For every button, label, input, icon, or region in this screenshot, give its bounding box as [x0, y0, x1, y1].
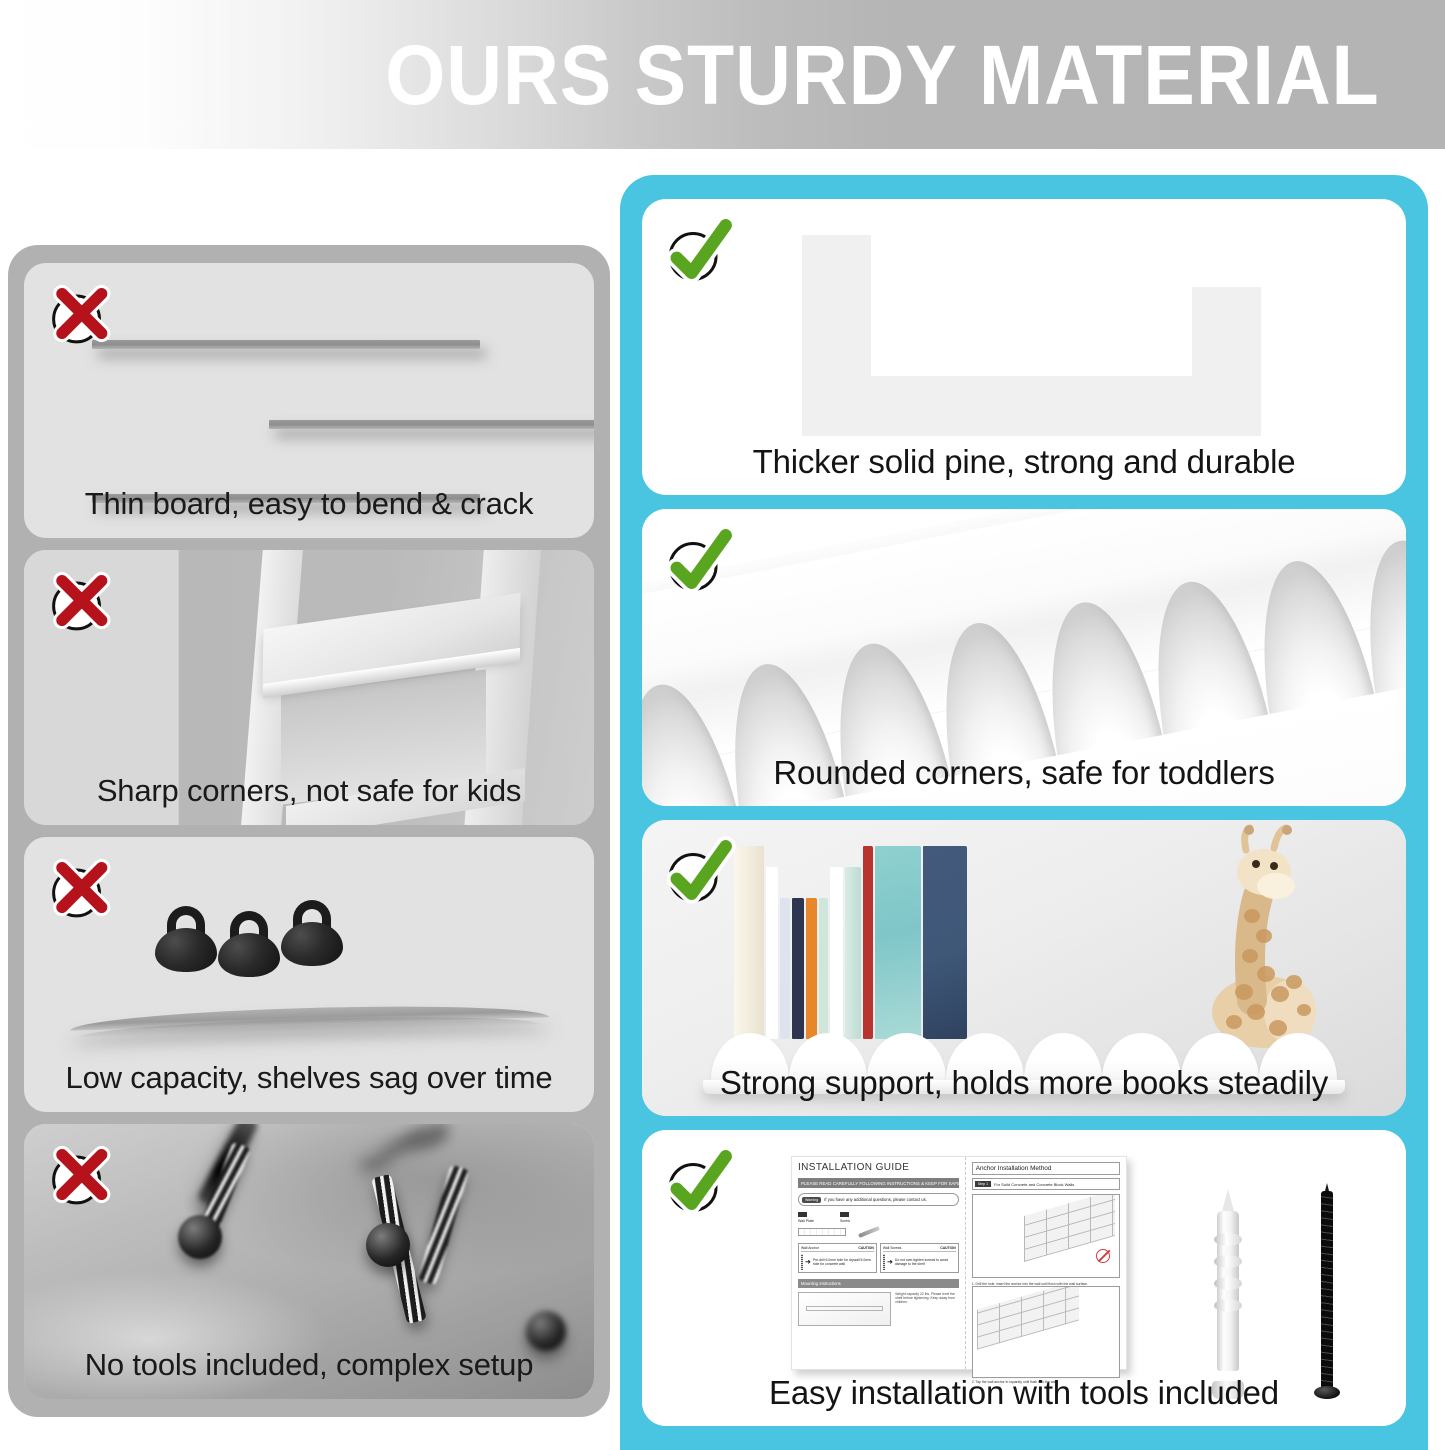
- con-card-caption: Sharp corners, not safe for kids: [24, 773, 594, 825]
- pro-card-easy-installation: INSTALLATION GUIDE PLEASE READ CAREFULLY…: [642, 1130, 1406, 1426]
- check-icon: [662, 525, 736, 599]
- part-screw: Screw: [840, 1212, 850, 1223]
- guide-right-title: Anchor Installation Method: [972, 1162, 1120, 1175]
- pro-card-rounded-corners: Rounded corners, safe for toddlers: [642, 509, 1406, 805]
- con-card-caption: No tools included, complex setup: [24, 1347, 594, 1399]
- pro-card-thicker-pine: Thicker solid pine, strong and durable: [642, 199, 1406, 495]
- guide-banner: PLEASE READ CAREFULLY FOLLOWING INSTRUCT…: [798, 1178, 959, 1188]
- guide-title: INSTALLATION GUIDE: [798, 1162, 959, 1173]
- page-title: OURS STURDY MATERIAL: [342, 33, 1423, 117]
- con-card-low-capacity: Low capacity, shelves sag over time: [24, 837, 594, 1112]
- cons-panel: Thin board, easy to bend & crack Sharp c…: [8, 245, 610, 1417]
- header-banner: OURS STURDY MATERIAL: [0, 0, 1445, 149]
- con-card-caption: Low capacity, shelves sag over time: [24, 1060, 594, 1112]
- cross-icon: [44, 1140, 118, 1214]
- installation-guide-sheet: INSTALLATION GUIDE PLEASE READ CAREFULLY…: [791, 1156, 1127, 1369]
- guide-caution-box-1: Wall AnchorCAUTION ➜Pre-drill 6.0mm hole…: [798, 1243, 877, 1273]
- page-title-text: OURS STURDY MATERIAL: [385, 33, 1379, 117]
- con-card-no-tools: No tools included, complex setup: [24, 1124, 594, 1399]
- con-card-sharp-corners: Sharp corners, not safe for kids: [24, 550, 594, 825]
- wall-anchor-icon: [1211, 1189, 1245, 1399]
- guide-caution-box-2: Wall ScrewsCAUTION ➜Do not over-tighten …: [880, 1243, 959, 1273]
- pros-panel: Thicker solid pine, strong and durable: [620, 175, 1428, 1450]
- wood-screw-icon: [1314, 1183, 1340, 1399]
- step-text: For Solid Concrete and Concrete Block Wa…: [994, 1182, 1074, 1187]
- cross-icon: [44, 279, 118, 353]
- check-icon: [662, 836, 736, 910]
- cross-icon: [44, 853, 118, 927]
- pro-card-caption: Rounded corners, safe for toddlers: [642, 754, 1406, 806]
- check-icon: [662, 215, 736, 289]
- pro-card-caption: Strong support, holds more books steadil…: [642, 1064, 1406, 1116]
- warning-chip: Warning: [802, 1197, 821, 1203]
- con-card-caption: Thin board, easy to bend & crack: [24, 486, 594, 538]
- step-chip: Step 1: [975, 1181, 991, 1187]
- cross-icon: [44, 566, 118, 640]
- giraffe-plush-icon: [1194, 820, 1322, 1051]
- con-card-thin-board: Thin board, easy to bend & crack: [24, 263, 594, 538]
- guide-warning-box: Warning If you have any additional quest…: [798, 1193, 959, 1206]
- pro-card-strong-support: Strong support, holds more books steadil…: [642, 820, 1406, 1116]
- pro-card-caption: Easy installation with tools included: [642, 1374, 1406, 1426]
- pro-card-caption: Thicker solid pine, strong and durable: [642, 443, 1406, 495]
- check-icon: [662, 1146, 736, 1220]
- part-wall-plate: Wall Plate: [798, 1212, 814, 1223]
